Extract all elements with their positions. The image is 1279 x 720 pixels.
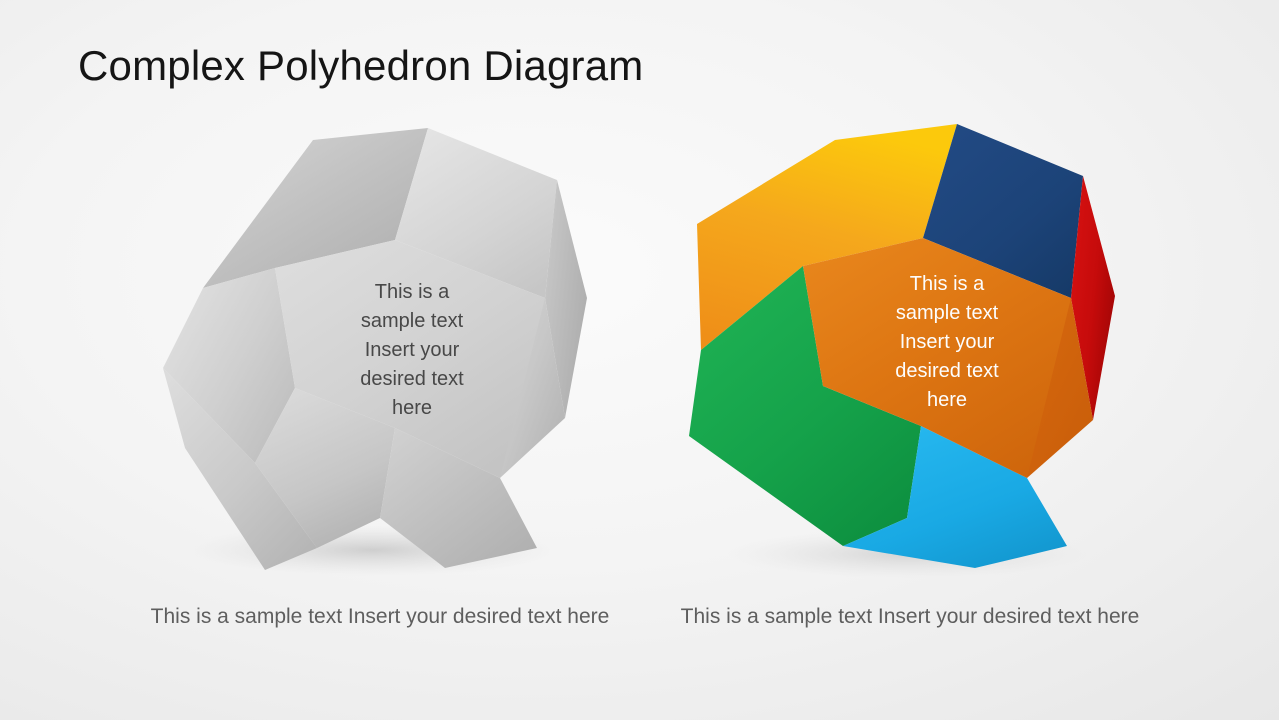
page-title: Complex Polyhedron Diagram xyxy=(78,42,643,90)
gray-polyhedron-caption: This is a sample text Insert your desire… xyxy=(145,602,615,631)
gray-polyhedron-svg xyxy=(145,118,615,588)
color-polyhedron-diagram[interactable]: This is a sample text Insert your desire… xyxy=(675,118,1145,588)
color-polyhedron-svg xyxy=(675,118,1145,588)
gray-polyhedron-diagram[interactable]: This is a sample text Insert your desire… xyxy=(145,118,615,588)
color-polyhedron-caption: This is a sample text Insert your desire… xyxy=(675,602,1145,631)
slide-canvas: Complex Polyhedron Diagram xyxy=(0,0,1279,720)
